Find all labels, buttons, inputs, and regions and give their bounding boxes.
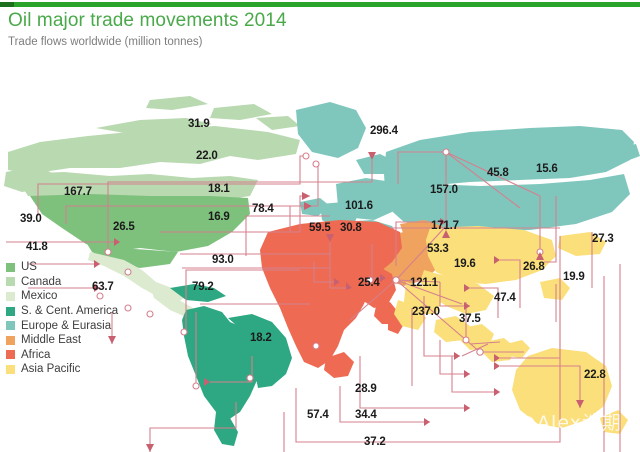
flow-value: 30.8: [340, 222, 362, 234]
flow-value: 31.9: [188, 118, 210, 130]
flow-value: 79.2: [192, 281, 214, 293]
flow-value: 37.5: [459, 313, 481, 325]
flow-value: 26.8: [523, 261, 545, 273]
flow-value: 59.5: [309, 222, 331, 234]
legend-swatch-us: [6, 263, 15, 272]
flow-value: 16.9: [208, 211, 230, 223]
legend-swatch-mexico: [6, 292, 15, 301]
flow-value: 41.8: [26, 241, 48, 253]
flow-value: 19.9: [563, 271, 585, 283]
flow-value: 93.0: [212, 254, 234, 266]
flow-value: 171.7: [431, 220, 459, 232]
flow-value: 22.8: [584, 369, 606, 381]
map-svg: [0, 56, 640, 452]
flow-value: 237.0: [412, 306, 440, 318]
flow-value: 26.5: [113, 221, 135, 233]
legend-item-us: US: [6, 260, 156, 275]
world-map: [0, 56, 640, 452]
flow-value: 57.4: [307, 409, 329, 421]
flow-value: 18.2: [250, 332, 272, 344]
flow-value: 167.7: [64, 186, 92, 198]
region-canada: [8, 96, 300, 202]
legend-item-canada: Canada: [6, 275, 156, 290]
top-accent-bar: [0, 2, 640, 7]
page-title: Oil major trade movements 2014: [8, 10, 287, 32]
flow-value: 101.6: [345, 200, 373, 212]
legend-swatch-africa: [6, 350, 15, 359]
flow-value: 53.3: [427, 243, 449, 255]
legend: US Canada Mexico S. & Cent. America Euro…: [6, 260, 156, 377]
flow-value: 34.4: [355, 409, 377, 421]
flow-value: 27.3: [592, 233, 614, 245]
legend-label: Europe & Eurasia: [21, 320, 111, 332]
legend-item-asia-pacific: Asia Pacific: [6, 362, 156, 377]
legend-swatch-s-cent-america: [6, 307, 15, 316]
flow-value: 39.0: [20, 213, 42, 225]
flow-value: 22.0: [196, 150, 218, 162]
region-greenland: [296, 102, 366, 158]
flow-value: 157.0: [430, 184, 458, 196]
legend-label: S. & Cent. America: [21, 305, 118, 317]
legend-item-middle-east: Middle East: [6, 333, 156, 348]
legend-label: Canada: [21, 276, 61, 288]
flow-value: 28.9: [355, 383, 377, 395]
legend-item-europe-eurasia: Europe & Eurasia: [6, 318, 156, 333]
flow-value: 25.4: [358, 277, 380, 289]
flow-value: 45.8: [487, 167, 509, 179]
infographic-root: Oil major trade movements 2014 Trade flo…: [0, 0, 640, 452]
legend-label: Middle East: [21, 334, 81, 346]
watermark: 知乎 @Alex谈期: [470, 408, 622, 435]
region-asia-pacific: [394, 226, 628, 434]
legend-swatch-canada: [6, 277, 15, 286]
flow-value: 47.4: [494, 292, 516, 304]
legend-item-africa: Africa: [6, 348, 156, 363]
legend-label: US: [21, 261, 37, 273]
legend-label: Mexico: [21, 290, 57, 302]
flow-value: 37.2: [364, 436, 386, 448]
legend-swatch-middle-east: [6, 336, 15, 345]
legend-swatch-europe-eurasia: [6, 321, 15, 330]
legend-item-mexico: Mexico: [6, 289, 156, 304]
legend-item-s-cent-america: S. & Cent. America: [6, 304, 156, 319]
legend-label: Asia Pacific: [21, 363, 80, 375]
flow-value: 19.6: [454, 258, 476, 270]
flow-value: 15.6: [536, 163, 558, 175]
flow-value: 18.1: [208, 183, 230, 195]
page-subtitle: Trade flows worldwide (million tonnes): [8, 36, 203, 48]
accent-bar-tab: [0, 2, 14, 7]
legend-label: Africa: [21, 349, 50, 361]
flow-value: 78.4: [252, 203, 274, 215]
flow-value: 296.4: [370, 125, 398, 137]
legend-swatch-asia-pacific: [6, 365, 15, 374]
flow-value: 121.1: [410, 277, 438, 289]
